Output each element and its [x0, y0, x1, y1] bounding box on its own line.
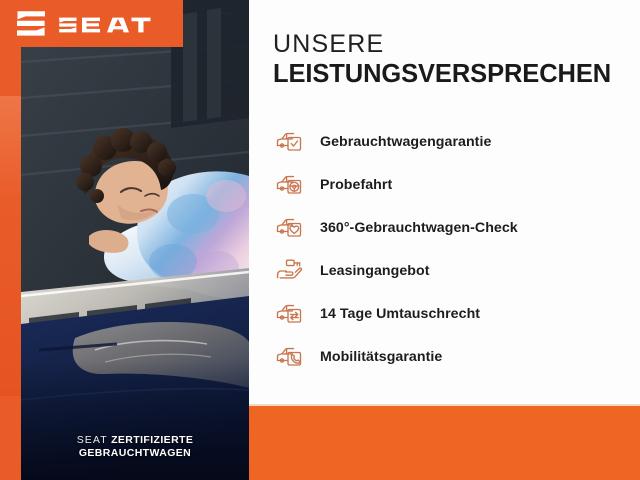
benefit-label: Leasingangebot	[320, 263, 429, 279]
left-orange-strip	[0, 0, 21, 480]
hero-photo-illustration	[21, 0, 249, 480]
brand-logo-bar	[0, 0, 183, 47]
benefit-item[interactable]: Mobilitätsgarantie	[274, 335, 632, 378]
benefit-label: Gebrauchtwagengarantie	[320, 134, 491, 150]
photo-caption-bold: ZERTIFIZIERTE	[111, 434, 193, 446]
photo-caption-line-1: SEAT ZERTIFIZIERTE	[21, 434, 249, 447]
bottom-bar-top-edge	[249, 404, 640, 406]
benefit-label: Mobilitätsgarantie	[320, 349, 442, 365]
hero-photo	[21, 0, 249, 480]
benefit-item[interactable]: 14 Tage Umtauschrecht	[274, 292, 632, 335]
benefit-item[interactable]: Probefahrt	[274, 163, 632, 206]
benefit-label: Probefahrt	[320, 177, 392, 193]
car-steering-wheel-icon	[274, 168, 308, 202]
seat-promo-banner: SEAT ZERTIFIZIERTE GEBRAUCHTWAGEN	[0, 0, 640, 480]
left-strip-gradient	[0, 96, 21, 396]
car-phone-icon	[274, 340, 308, 374]
benefit-label: 14 Tage Umtauschrecht	[320, 306, 480, 322]
photo-caption: SEAT ZERTIFIZIERTE GEBRAUCHTWAGEN	[21, 434, 249, 459]
benefits-list: Gebrauchtwagengarantie	[274, 120, 632, 378]
headline-line-1: UNSERE	[273, 30, 630, 58]
bottom-orange-bar	[249, 404, 640, 480]
car-check-icon	[274, 125, 308, 159]
seat-logo[interactable]	[14, 8, 152, 39]
seat-s-monogram-icon	[14, 8, 48, 39]
car-heart-icon	[274, 211, 308, 245]
seat-wordmark	[57, 13, 152, 35]
benefit-item[interactable]: Gebrauchtwagengarantie	[274, 120, 632, 163]
hand-key-icon	[274, 254, 308, 288]
photo-caption-line-2: GEBRAUCHTWAGEN	[21, 447, 249, 460]
headline-line-2: LEISTUNGSVERSPRECHEN	[273, 59, 630, 89]
headline-block: UNSERE LEISTUNGSVERSPRECHEN	[273, 30, 630, 89]
benefit-label: 360°-Gebrauchtwagen-Check	[320, 220, 518, 236]
benefit-item[interactable]: Leasingangebot	[274, 249, 632, 292]
photo-caption-brand: SEAT	[77, 434, 108, 446]
benefit-item[interactable]: 360°-Gebrauchtwagen-Check	[274, 206, 632, 249]
car-exchange-icon	[274, 297, 308, 331]
